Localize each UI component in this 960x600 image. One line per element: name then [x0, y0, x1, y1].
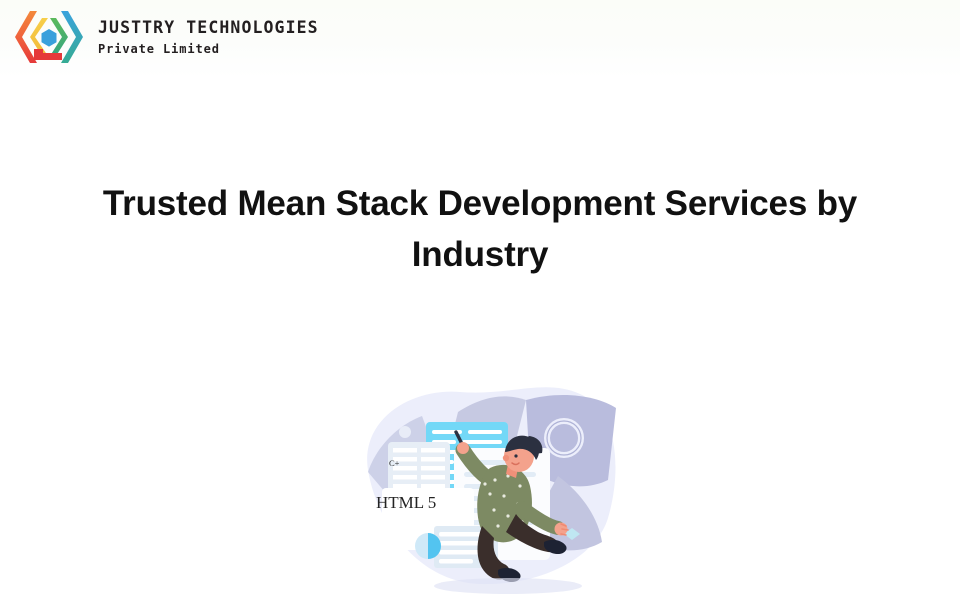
- hero-illustration: C+ HTML 5: [330, 360, 640, 600]
- page-title: Trusted Mean Stack Development Services …: [0, 178, 960, 281]
- illustration-label-html5: HTML 5: [376, 493, 436, 512]
- brand-subtitle: Private Limited: [98, 42, 319, 58]
- developer-coding-illustration-icon: C+ HTML 5: [330, 360, 640, 600]
- illustration-label-cplus: C+: [389, 458, 400, 468]
- brand-text-block: JUSTTRY TECHNOLOGIES Private Limited: [98, 16, 319, 57]
- brand-name: JUSTTRY TECHNOLOGIES: [98, 18, 319, 39]
- justtry-hexagon-logo-icon: [10, 8, 86, 66]
- brand-logo-block[interactable]: JUSTTRY TECHNOLOGIES Private Limited: [10, 8, 319, 66]
